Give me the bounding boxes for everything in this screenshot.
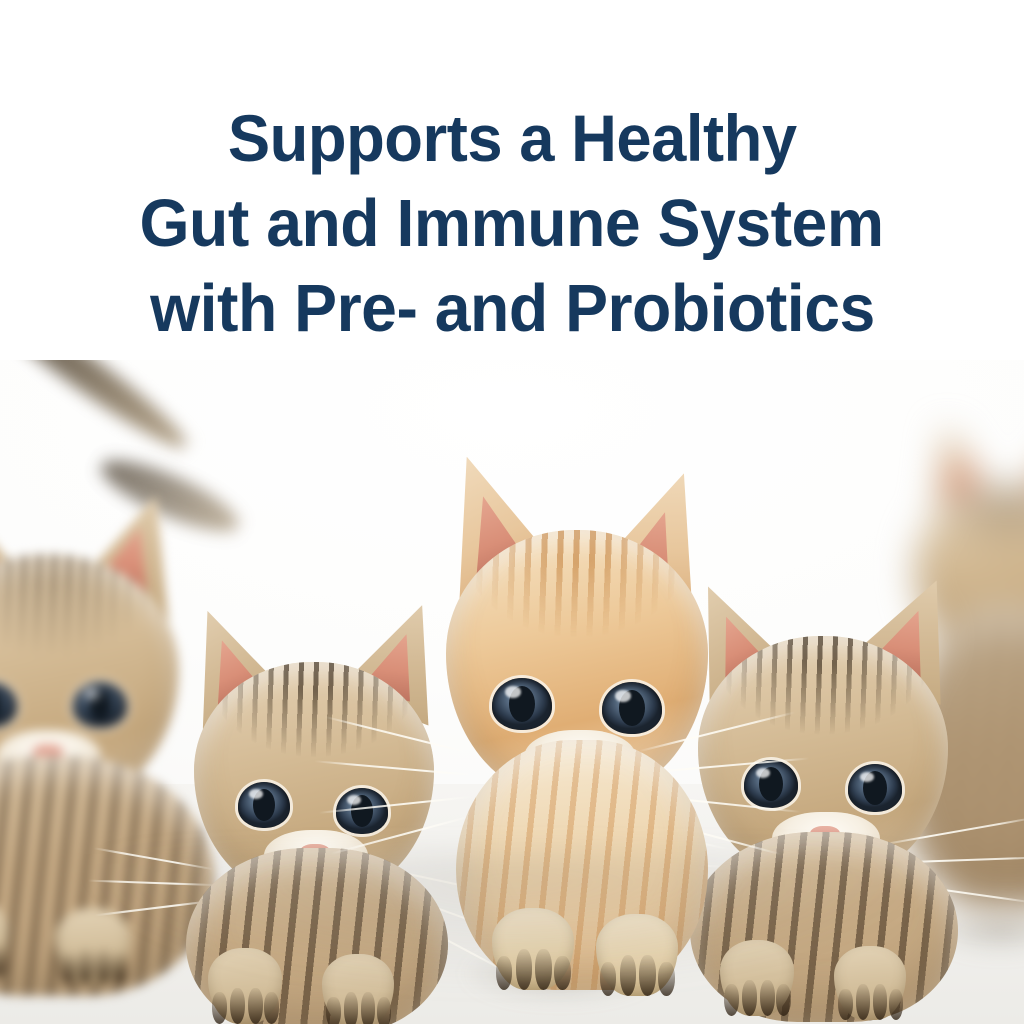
headline-line-1: Supports a Healthy (228, 96, 797, 181)
forehead-stripes (0, 554, 179, 700)
headline-line-2: Gut and Immune System (140, 181, 884, 266)
eye-glint (505, 686, 521, 697)
eye-left (744, 760, 798, 808)
headline-band: Supports a Healthy Gut and Immune System… (0, 0, 1024, 360)
eye-left (238, 782, 290, 828)
kitten-tail (0, 356, 196, 460)
pupil (0, 689, 2, 721)
eye-glint (756, 768, 770, 779)
floor-shadow (0, 854, 1024, 1024)
eye-right (336, 788, 388, 834)
headline-line-3: with Pre- and Probiotics (150, 266, 875, 351)
eye-right (73, 682, 127, 728)
eye-right (848, 764, 902, 812)
marketing-tile: Supports a Healthy Gut and Immune System… (0, 0, 1024, 1024)
forehead-stripes (194, 662, 434, 799)
eye-left (492, 678, 552, 730)
eye-glint (860, 772, 874, 783)
forehead-stripes (446, 530, 708, 685)
eye-right (602, 682, 662, 734)
kitten-photo (0, 356, 1024, 1024)
eye-glint (615, 690, 631, 701)
